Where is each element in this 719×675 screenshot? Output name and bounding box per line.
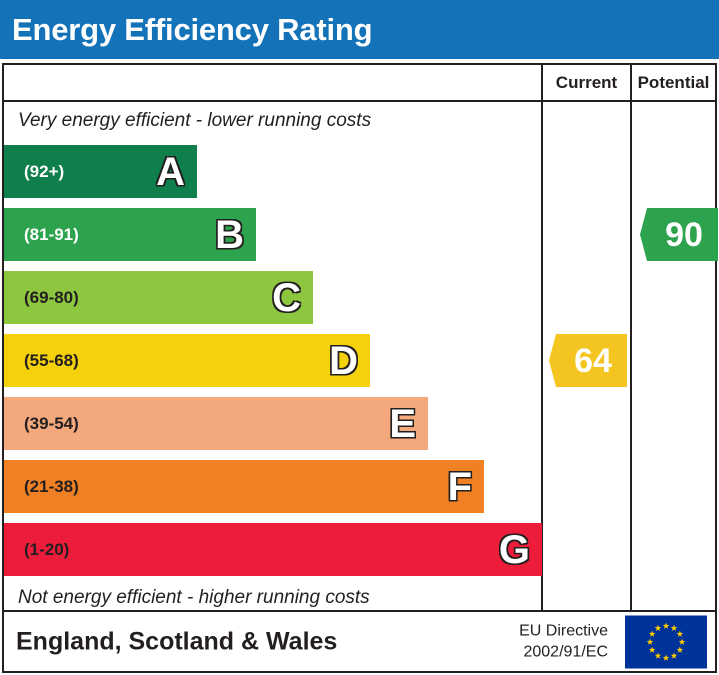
flag-star	[671, 652, 677, 658]
column-header-current: Current	[543, 65, 630, 100]
footer-region-label: England, Scotland & Wales	[16, 627, 337, 656]
band-letter-label: G	[499, 530, 530, 570]
band-range-label: (55-68)	[24, 351, 79, 371]
caption-inefficient: Not energy efficient - higher running co…	[18, 587, 370, 609]
current-rating-value: 64	[564, 344, 612, 378]
flag-star	[655, 624, 661, 630]
footer-directive: EU Directive 2002/91/EC	[519, 620, 608, 663]
potential-column-divider	[630, 65, 632, 610]
page-title: Energy Efficiency Rating	[12, 12, 372, 48]
band-f: (21-38)F	[4, 460, 484, 513]
footer: England, Scotland & Wales EU Directive 2…	[2, 612, 717, 673]
flag-star	[671, 624, 677, 630]
flag-star	[663, 622, 669, 628]
flag-star	[677, 646, 683, 652]
flag-star	[663, 654, 669, 660]
flag-star	[649, 630, 655, 636]
band-a: (92+)A	[4, 145, 197, 198]
epc-certificate: Energy Efficiency Rating Current Potenti…	[0, 0, 719, 675]
band-range-label: (92+)	[24, 162, 64, 182]
band-e: (39-54)E	[4, 397, 428, 450]
flag-star	[649, 646, 655, 652]
band-letter-label: F	[448, 467, 472, 507]
flag-star	[647, 638, 653, 644]
flag-star	[677, 630, 683, 636]
column-header-potential: Potential	[632, 65, 715, 100]
caption-efficient: Very energy efficient - lower running co…	[18, 110, 371, 132]
rating-chart: Current Potential Very energy efficient …	[2, 63, 717, 612]
current-rating-arrow: 64	[549, 334, 627, 387]
band-letter-label: E	[389, 404, 416, 444]
flag-star	[655, 652, 661, 658]
band-c: (69-80)C	[4, 271, 313, 324]
band-letter-label: A	[156, 152, 185, 192]
band-letter-label: D	[329, 341, 358, 381]
directive-line-2: 2002/91/EC	[519, 642, 608, 664]
band-b: (81-91)B	[4, 208, 256, 261]
band-range-label: (69-80)	[24, 288, 79, 308]
header-divider	[4, 100, 715, 102]
potential-rating-arrow: 90	[640, 208, 718, 261]
band-letter-label: C	[272, 278, 301, 318]
title-bar: Energy Efficiency Rating	[0, 0, 719, 59]
potential-rating-value: 90	[655, 218, 703, 252]
band-range-label: (39-54)	[24, 414, 79, 434]
band-d: (55-68)D	[4, 334, 370, 387]
band-range-label: (81-91)	[24, 225, 79, 245]
eu-flag-icon	[625, 615, 707, 668]
band-range-label: (1-20)	[24, 540, 69, 560]
flag-star	[679, 638, 685, 644]
band-g: (1-20)G	[4, 523, 542, 576]
band-letter-label: B	[215, 215, 244, 255]
directive-line-1: EU Directive	[519, 620, 608, 642]
band-range-label: (21-38)	[24, 477, 79, 497]
